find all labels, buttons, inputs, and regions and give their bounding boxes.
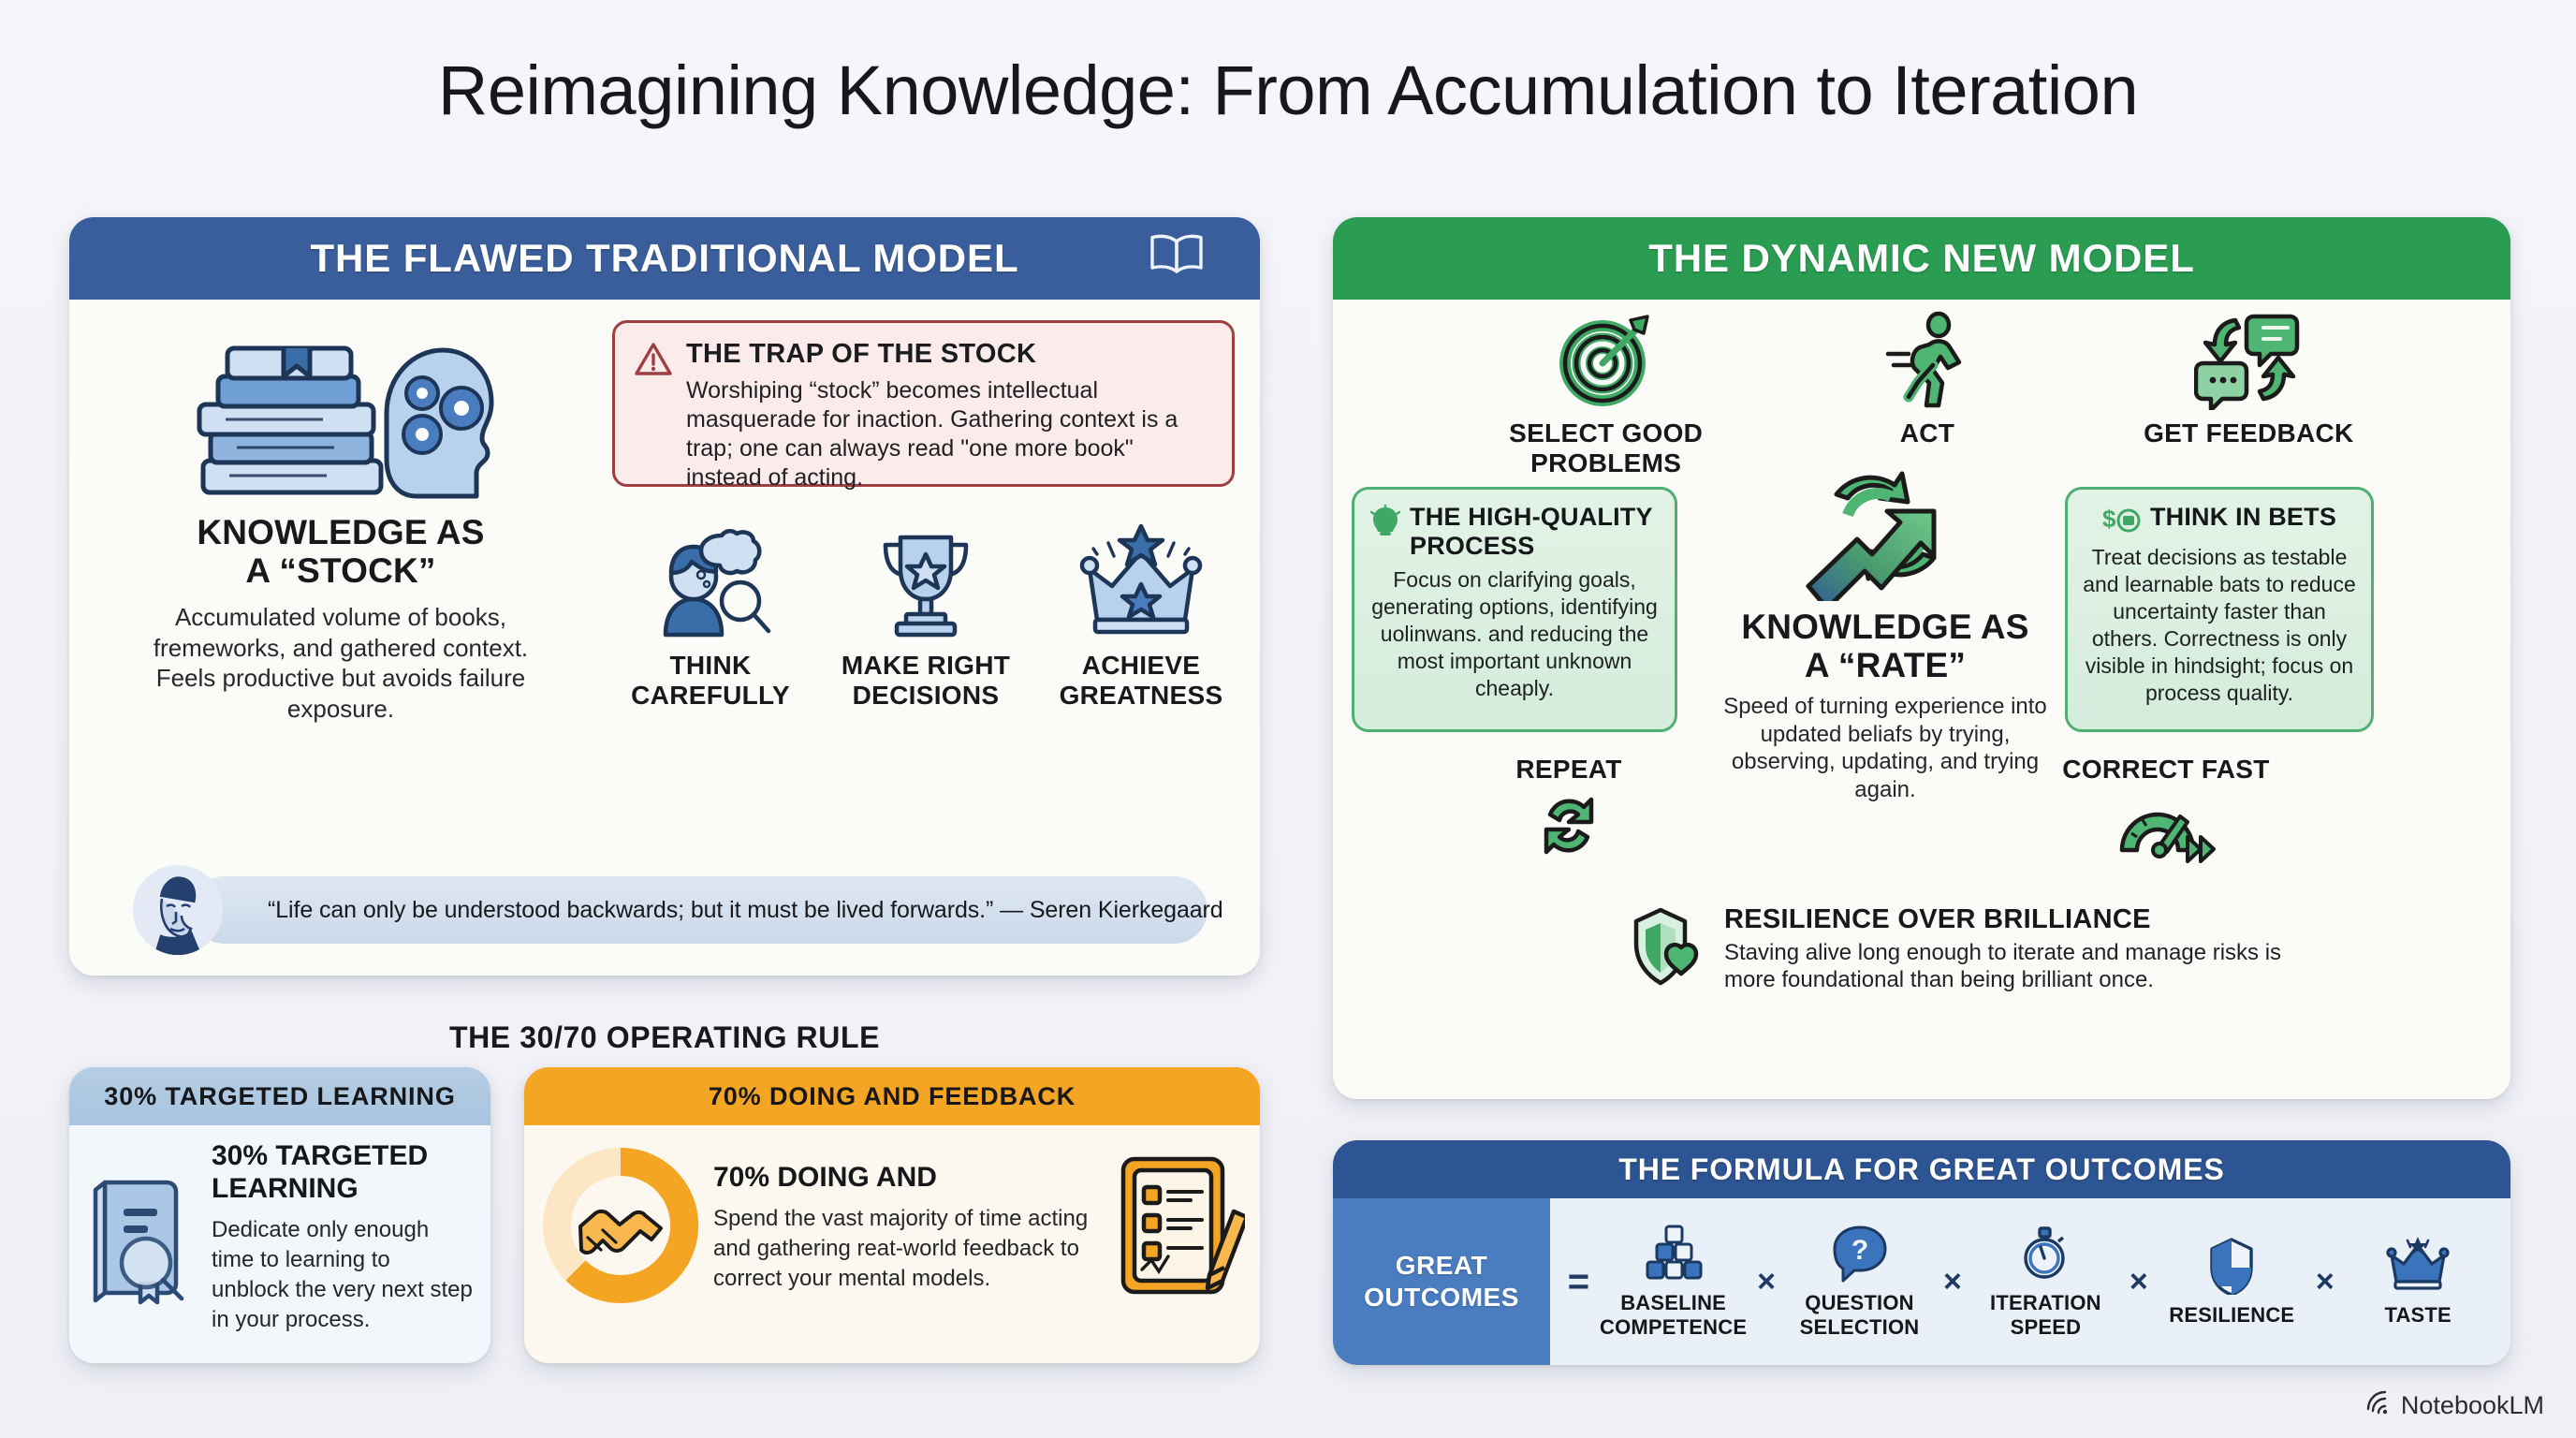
correct-fast-block: CORRECT FAST xyxy=(2044,755,2288,872)
svg-text:$: $ xyxy=(2102,505,2116,533)
trap-of-the-stock-callout: THE TRAP OF THE STOCK Worshiping “stock”… xyxy=(612,320,1235,487)
step-label: THINK CAREFULLY xyxy=(603,651,818,712)
formula-term-label: ITERATION SPEED xyxy=(1970,1291,2120,1338)
shield-icon xyxy=(2206,1283,2257,1299)
shield-heart-icon xyxy=(1629,904,1709,995)
right-panel-header: THE DYNAMIC NEW MODEL xyxy=(1333,217,2510,300)
quote-text: “Life can only be understood backwards; … xyxy=(191,897,1223,924)
rule-b-body-text: Spend the vast majority of time acting a… xyxy=(713,1204,1095,1294)
rule-card-30-targeted-learning: 30% TARGETED LEARNING 30% TARGETED xyxy=(69,1067,490,1363)
bets-title: THINK IN BETS xyxy=(2150,503,2336,532)
knowledge-as-stock-block: KNOWLEDGE AS A “STOCK” Accumulated volum… xyxy=(107,320,575,725)
trap-body: Worshiping “stock” becomes intellectual … xyxy=(686,376,1213,492)
books-and-head-with-gears-icon xyxy=(186,491,495,506)
upward-arrow-cycle-icon xyxy=(1792,589,1979,605)
step-achieve-greatness: ACHIEVE GREATNESS xyxy=(1033,524,1249,712)
left-panel-header-label: THE FLAWED TRADITIONAL MODEL xyxy=(310,236,1018,281)
target-bullseye-icon xyxy=(1556,398,1657,414)
notebooklm-logo-icon xyxy=(2364,1388,2393,1423)
rule-a-body: 30% TARGETED LEARNING Dedicate only enou… xyxy=(69,1125,490,1335)
open-book-icon xyxy=(1148,232,1206,285)
formula-term-iteration-speed: ITERATION SPEED xyxy=(1970,1225,2120,1338)
checklist-pencil-icon xyxy=(1105,1146,1245,1310)
multiply-sign: × xyxy=(2316,1264,2334,1300)
page-title: Reimagining Knowledge: From Accumulation… xyxy=(0,51,2576,130)
question-bubble-icon: ? xyxy=(1829,1270,1891,1286)
knowledge-as-stock-title: KNOWLEDGE AS A “STOCK” xyxy=(107,513,575,591)
handshake-donut-icon xyxy=(532,1137,710,1319)
rule-b-header: 70% DOING AND FEEDBACK xyxy=(524,1067,1260,1125)
dynamic-new-model-panel: THE DYNAMIC NEW MODEL xyxy=(1333,217,2510,1099)
infographic-canvas: Reimagining Knowledge: From Accumulation… xyxy=(0,0,2576,1438)
resilience-body: Staving alive long enough to iterate and… xyxy=(1724,939,2312,994)
step-think-carefully: THINK CAREFULLY xyxy=(603,524,818,712)
repeat-block: REPEAT xyxy=(1475,755,1662,872)
left-panel-header: THE FLAWED TRADITIONAL MODEL xyxy=(69,217,1260,300)
equals-sign: = xyxy=(1568,1261,1589,1303)
feedback-chat-loop-icon xyxy=(2194,398,2303,414)
crown-icon xyxy=(2385,1283,2451,1299)
process-head-row: THE HIGH-QUALITY PROCESS xyxy=(1369,503,1660,561)
brand-label: NotebookLM xyxy=(2401,1391,2544,1420)
speedometer-icon xyxy=(2115,855,2217,871)
step-label: ACT xyxy=(1766,418,2087,448)
operating-rule-title: THE 30/70 OPERATING RULE xyxy=(69,1020,1260,1055)
building-blocks-icon xyxy=(1636,1270,1711,1286)
formula-result-line1: GREAT xyxy=(1364,1250,1519,1282)
formula-terms: = xyxy=(1550,1198,2510,1365)
process-body: Focus on clarifying goals, generating op… xyxy=(1369,566,1660,702)
formula-term-resilience: RESILIENCE xyxy=(2157,1237,2306,1327)
money-coin-icon: $ xyxy=(2102,504,2142,538)
trap-title: THE TRAP OF THE STOCK xyxy=(686,339,1213,370)
rule-b-body: 70% DOING AND Spend the vast majority of… xyxy=(524,1125,1260,1319)
multiply-sign: × xyxy=(1757,1264,1776,1300)
running-person-icon xyxy=(1877,398,1978,414)
formula-term-question-selection: ? QUESTION SELECTION xyxy=(1785,1225,1935,1338)
formula-term-label: TASTE xyxy=(2343,1303,2493,1327)
kierkegaard-portrait-icon xyxy=(133,865,223,955)
step-get-feedback: GET FEEDBACK xyxy=(2088,309,2409,479)
trophy-icon xyxy=(867,626,985,642)
knowledge-as-rate-description: Speed of turning experience into updated… xyxy=(1707,693,2063,804)
recycle-loop-icon xyxy=(1526,855,1612,871)
formula-body: GREAT OUTCOMES = xyxy=(1333,1198,2510,1365)
step-label: MAKE RIGHT DECISIONS xyxy=(818,651,1033,712)
resilience-over-brilliance-block: RESILIENCE OVER BRILLIANCE Staving alive… xyxy=(1629,904,2312,995)
quote-pill: “Life can only be understood backwards; … xyxy=(191,876,1207,944)
crown-icon xyxy=(1073,626,1209,642)
rule-a-body-text: Dedicate only enough time to learning to… xyxy=(212,1215,474,1336)
step-make-right-decisions: MAKE RIGHT DECISIONS xyxy=(818,524,1033,712)
step-label: ACHIEVE GREATNESS xyxy=(1033,651,1249,712)
stopwatch-icon xyxy=(2017,1270,2073,1286)
rule-a-text: 30% TARGETED LEARNING Dedicate only enou… xyxy=(212,1140,474,1335)
kierkegaard-quote-block: “Life can only be understood backwards; … xyxy=(131,871,1207,949)
bets-body: Treat decisions as testable and learnabl… xyxy=(2083,544,2356,707)
right-panel-body: SELECT GOOD PROBLEMS xyxy=(1333,300,2510,1099)
rule-card-70-doing-feedback: 70% DOING AND FEEDBACK 70% DOING AND Spe… xyxy=(524,1067,1260,1363)
formula-panel: THE FORMULA FOR GREAT OUTCOMES GREAT OUT… xyxy=(1333,1140,2510,1365)
repeat-label: REPEAT xyxy=(1475,755,1662,785)
rule-b-text: 70% DOING AND Spend the vast majority of… xyxy=(713,1162,1101,1294)
resilience-title: RESILIENCE OVER BRILLIANCE xyxy=(1724,904,2312,935)
rule-b-heading: 70% DOING AND xyxy=(713,1162,1095,1195)
high-quality-process-callout: THE HIGH-QUALITY PROCESS Focus on clarif… xyxy=(1352,487,1677,732)
bets-head-row: $ THINK IN BETS xyxy=(2083,503,2356,538)
knowledge-as-rate-title: KNOWLEDGE AS A “RATE” xyxy=(1707,608,2063,685)
warning-triangle-icon xyxy=(634,341,673,475)
formula-term-label: QUESTION SELECTION xyxy=(1785,1291,1935,1338)
correct-fast-label: CORRECT FAST xyxy=(2044,755,2288,785)
formula-header: THE FORMULA FOR GREAT OUTCOMES xyxy=(1333,1140,2510,1198)
formula-term-baseline-competence: BASELINE COMPETENCE xyxy=(1599,1225,1749,1338)
rule-a-header: 30% TARGETED LEARNING xyxy=(69,1067,490,1125)
knowledge-as-stock-description: Accumulated volume of books, fremeworks,… xyxy=(107,602,575,725)
formula-result: GREAT OUTCOMES xyxy=(1333,1198,1550,1365)
formula-term-label: RESILIENCE xyxy=(2157,1303,2306,1327)
process-title: THE HIGH-QUALITY PROCESS xyxy=(1410,503,1660,561)
dynamic-steps-row: SELECT GOOD PROBLEMS xyxy=(1445,309,2409,479)
traditional-steps-row: THINK CAREFULLY xyxy=(603,524,1249,712)
multiply-sign: × xyxy=(2130,1264,2148,1300)
formula-term-label: BASELINE COMPETENCE xyxy=(1599,1291,1749,1338)
lightbulb-icon xyxy=(1369,505,1401,543)
rule-a-heading: 30% TARGETED LEARNING xyxy=(212,1140,474,1206)
think-in-bets-callout: $ THINK IN BETS Treat decisions as testa… xyxy=(2065,487,2374,732)
formula-result-line2: OUTCOMES xyxy=(1364,1282,1519,1313)
left-panel-body: KNOWLEDGE AS A “STOCK” Accumulated volum… xyxy=(69,300,1260,976)
knowledge-as-rate-block: KNOWLEDGE AS A “RATE” Speed of turning e… xyxy=(1707,461,2063,804)
step-select-good-problems: SELECT GOOD PROBLEMS xyxy=(1445,309,1766,479)
step-label: GET FEEDBACK xyxy=(2088,418,2409,448)
formula-term-taste: TASTE xyxy=(2343,1237,2493,1327)
book-magnifier-icon xyxy=(84,1166,202,1311)
person-thinking-magnifier-icon xyxy=(645,626,776,642)
multiply-sign: × xyxy=(1943,1264,1962,1300)
step-act: ACT xyxy=(1766,309,2087,479)
svg-text:?: ? xyxy=(1851,1235,1867,1266)
flawed-traditional-model-panel: THE FLAWED TRADITIONAL MODEL xyxy=(69,217,1260,976)
footer-brand: NotebookLM xyxy=(2364,1388,2544,1423)
